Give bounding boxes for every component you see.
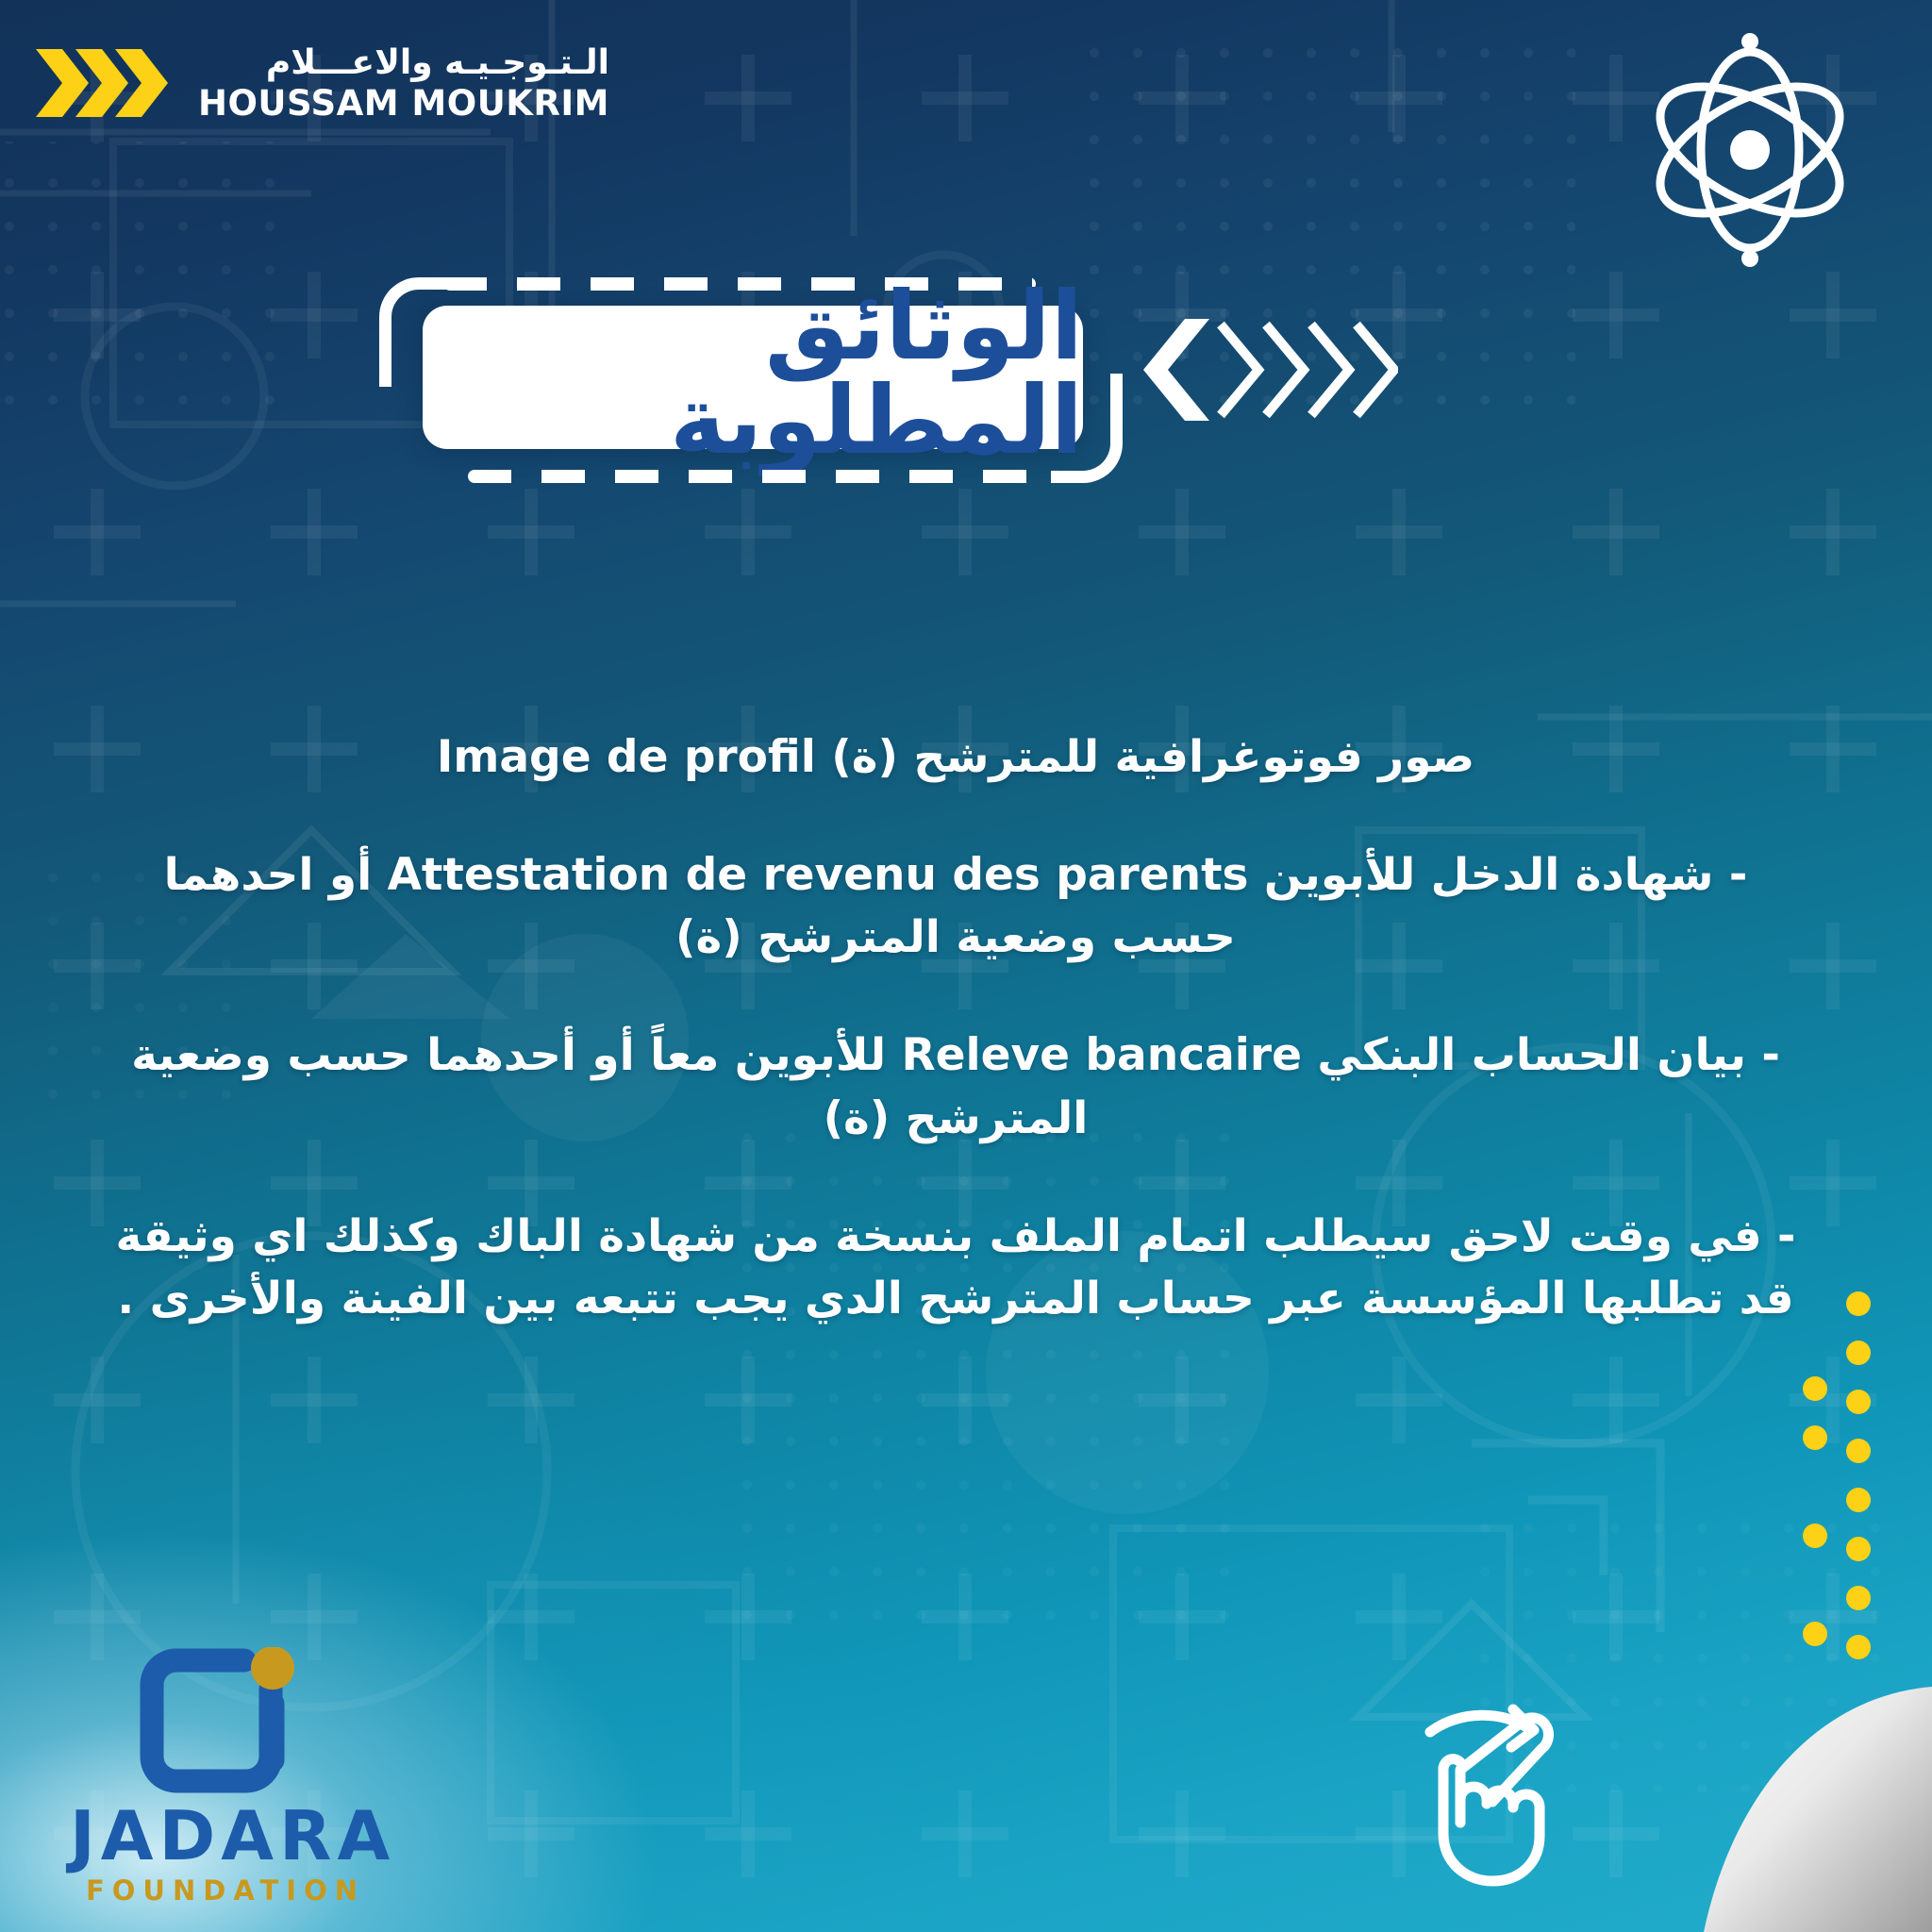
page-curl-corner <box>1630 1630 1932 1932</box>
document-item: - في وقت لاحق سيطلب اتمام الملف بنسخة من… <box>102 1206 1809 1331</box>
title-bracket-bottom-right <box>1051 374 1123 483</box>
jadara-subtitle: FOUNDATION <box>70 1877 381 1905</box>
swipe-hand-icon <box>1423 1702 1621 1890</box>
document-item: صور فوتوغرافية للمترشح (ة) Image de prof… <box>102 726 1809 790</box>
brand-latin-name: HOUSSAM MOUKRIM <box>198 86 609 121</box>
document-item: - شهادة الدخل للأبوين Attestation de rev… <box>102 844 1809 970</box>
brand-header: الـتـوجـيـه والاعـــلام HOUSSAM MOUKRIM <box>34 45 609 121</box>
brand-arabic-name: الـتـوجـيـه والاعـــلام <box>266 46 609 80</box>
document-item: - بيان الحساب البنكي Releve bancaire للأ… <box>102 1024 1809 1150</box>
chevron-group-icon <box>1143 313 1398 426</box>
triple-chevron-icon <box>34 45 177 121</box>
jadara-bracket-dot-logo <box>131 1647 320 1798</box>
page-title: الوثائق المطلوبة <box>423 279 1083 468</box>
documents-list: صور فوتوغرافية للمترشح (ة) Image de prof… <box>102 726 1809 1331</box>
title-dashed-line-bottom <box>468 470 1060 483</box>
title-block: الوثائق المطلوبة <box>374 253 1128 498</box>
jadara-logo: JADARA FOUNDATION <box>70 1647 381 1883</box>
page-title-card: الوثائق المطلوبة <box>423 306 1083 449</box>
yellow-dot-grid <box>1792 1291 1883 1687</box>
jadara-name: JADARA <box>70 1802 381 1870</box>
brand-text-block: الـتـوجـيـه والاعـــلام HOUSSAM MOUKRIM <box>198 46 609 121</box>
atom-icon <box>1632 32 1868 268</box>
poster-canvas: الـتـوجـيـه والاعـــلام HOUSSAM MOUKRIM … <box>0 0 1932 1932</box>
